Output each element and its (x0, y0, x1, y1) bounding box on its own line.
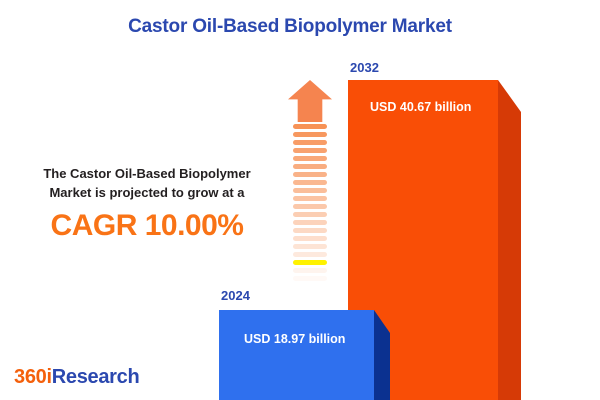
arrow-stripes (293, 124, 327, 300)
arrow-stripe (293, 244, 327, 249)
statement-line-1: The Castor Oil-Based Biopolymer (18, 164, 276, 183)
arrow-stripe (293, 164, 327, 169)
arrow-stripe (293, 204, 327, 209)
infographic-canvas: Castor Oil-Based Biopolymer Market 2032 … (0, 0, 600, 400)
arrow-stripe (293, 252, 327, 257)
arrow-stripe (293, 220, 327, 225)
arrow-head-icon (288, 80, 332, 122)
arrow-stripe (293, 124, 327, 129)
arrow-stripe (293, 260, 327, 265)
arrow-stripe (293, 284, 327, 289)
arrow-stripe (293, 140, 327, 145)
bar-2024-front-face (219, 310, 374, 400)
page-title: Castor Oil-Based Biopolymer Market (0, 16, 580, 38)
arrow-stripe (293, 188, 327, 193)
growth-arrow-icon (288, 80, 332, 294)
arrow-stripe (293, 156, 327, 161)
arrow-stripe (293, 180, 327, 185)
arrow-stripe (293, 228, 327, 233)
arrow-stripe (293, 132, 327, 137)
logo-text-360i: 360i (14, 366, 52, 388)
brand-logo: 360iResearch (14, 366, 139, 389)
bar-2032-side-face (498, 80, 521, 400)
arrow-stripe (293, 172, 327, 177)
bar-year-label-2024: 2024 (221, 288, 250, 303)
arrow-stripe (293, 276, 327, 281)
bar-2024-value-label: USD 18.97 billion (244, 332, 345, 346)
arrow-stripe (293, 196, 327, 201)
cagr-statement: The Castor Oil-Based Biopolymer Market i… (18, 164, 276, 243)
logo-text-research: Research (52, 366, 140, 388)
cagr-value: CAGR 10.00% (18, 209, 276, 243)
arrow-stripe (293, 268, 327, 273)
arrow-stripe (293, 236, 327, 241)
bar-2032-value-label: USD 40.67 billion (370, 100, 471, 114)
arrow-stripe (293, 148, 327, 153)
bar-year-label-2032: 2032 (350, 60, 379, 75)
statement-line-2: Market is projected to grow at a (18, 183, 276, 202)
arrow-stripe (293, 292, 327, 297)
arrow-stripe (293, 212, 327, 217)
